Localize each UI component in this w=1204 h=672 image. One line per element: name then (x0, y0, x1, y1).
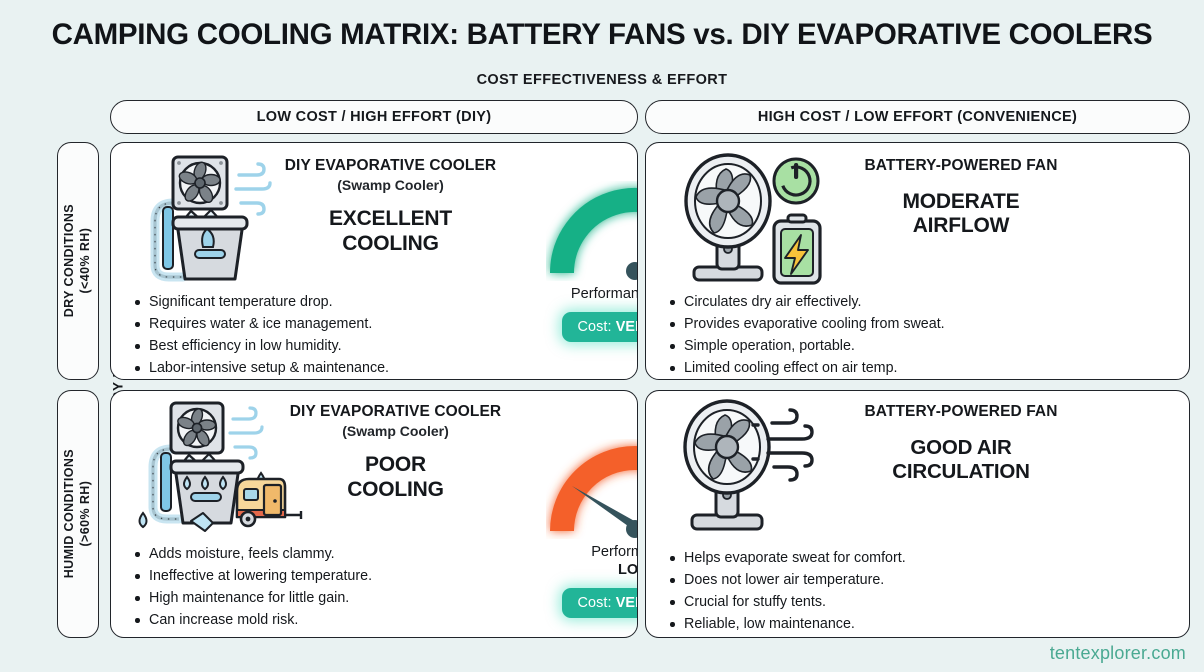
verdict-text: GOOD AIR CIRCULATION (806, 436, 1116, 484)
cost-label: Cost: (578, 319, 612, 335)
performance-readout: Performance: LOW (539, 543, 638, 579)
list-item: Circulates dry air effectively. (668, 291, 945, 313)
status-badge-cost: Cost: VERY LOW (562, 588, 638, 618)
list-item: Crucial for stuffy tents. (668, 591, 906, 613)
list-item: Ineffective at lowering temperature. (133, 565, 372, 587)
product-name: DIY EVAPORATIVE COOLER (263, 157, 518, 176)
performance-label: Performance: (571, 286, 638, 302)
list-item: Does not lower air temperature. (668, 569, 906, 591)
performance-label: Performance: (591, 544, 638, 560)
status-badge-cost: Cost: VERY LOW (562, 312, 638, 342)
verdict-line1: MODERATE (902, 190, 1019, 213)
column-header-low-cost: LOW COST / HIGH EFFORT (DIY) (110, 100, 638, 134)
performance-readout: Performance: HIGH (539, 285, 638, 303)
list-item: Significant temperature drop. (133, 291, 389, 313)
verdict-text: MODERATE AIRFLOW (806, 190, 1116, 240)
product-title-block: BATTERY-POWERED FAN MODERATE AIRFLOW (806, 157, 1116, 239)
product-name: DIY EVAPORATIVE COOLER (263, 403, 528, 422)
performance-value: LOW (618, 562, 638, 578)
verdict-line1: GOOD AIR (910, 436, 1011, 459)
verdict-line1: POOR (365, 453, 426, 476)
product-name: BATTERY-POWERED FAN (806, 403, 1116, 422)
cell-humid-battery-fan: BATTERY-POWERED FAN GOOD AIR CIRCULATION… (645, 390, 1190, 638)
list-item: Can increase mold risk. (133, 609, 372, 631)
list-item: Helps evaporate sweat for comfort. (668, 547, 906, 569)
row-header-humid-line2: (>60% RH) (78, 449, 94, 578)
list-item: Requires water & ice management. (133, 313, 389, 335)
list-item: Limited cooling effect on air temp. (668, 357, 945, 379)
row-header-dry-conditions: DRY CONDITIONS (<40% RH) (57, 142, 99, 380)
column-header-low-cost-label: LOW COST / HIGH EFFORT (DIY) (257, 109, 492, 125)
product-subtitle: (Swamp Cooler) (263, 177, 518, 194)
list-item: Reliable, low maintenance. (668, 613, 906, 635)
product-name: BATTERY-POWERED FAN (806, 157, 1116, 176)
cell-dry-diy-cooler: DIY EVAPORATIVE COOLER (Swamp Cooler) EX… (110, 142, 638, 380)
verdict-line2: CIRCULATION (892, 460, 1030, 483)
product-title-block: BATTERY-POWERED FAN GOOD AIR CIRCULATION (806, 403, 1116, 484)
feature-list: Significant temperature drop. Requires w… (133, 291, 389, 380)
list-item: Provides evaporative cooling from sweat. (668, 313, 945, 335)
verdict-line2: COOLING (342, 232, 439, 255)
verdict-text: EXCELLENT COOLING (263, 207, 518, 257)
list-item: Simple operation, portable. (668, 335, 945, 357)
verdict-line2: AIRFLOW (913, 214, 1010, 237)
feature-list: Helps evaporate sweat for comfort. Does … (668, 547, 906, 636)
list-item: Labor-intensive setup & maintenance. (133, 357, 389, 379)
infographic-root: CAMPING COOLING MATRIX: BATTERY FANS vs.… (0, 0, 1204, 672)
feature-list: Circulates dry air effectively. Provides… (668, 291, 945, 380)
verdict-line2: COOLING (347, 478, 444, 501)
page-title: CAMPING COOLING MATRIX: BATTERY FANS vs.… (0, 18, 1204, 52)
performance-gauge-group: Performance: HIGH Cost: VERY LOW (539, 181, 638, 342)
row-header-humid-conditions: HUMID CONDITIONS (>60% RH) (57, 390, 99, 638)
diy-evaporative-cooler-icon (121, 149, 281, 289)
gauge-icon (546, 181, 638, 281)
product-subtitle: (Swamp Cooler) (263, 423, 528, 440)
product-title-block: DIY EVAPORATIVE COOLER (Swamp Cooler) PO… (263, 403, 528, 503)
row-header-dry-line1: DRY CONDITIONS (62, 204, 78, 317)
verdict-text: POOR COOLING (263, 453, 528, 503)
column-header-high-cost-label: HIGH COST / LOW EFFORT (CONVENIENCE) (758, 109, 1077, 125)
cell-humid-diy-cooler: DIY EVAPORATIVE COOLER (Swamp Cooler) PO… (110, 390, 638, 638)
feature-list: Adds moisture, feels clammy. Ineffective… (133, 543, 372, 632)
performance-gauge-group: Performance: LOW Cost: VERY LOW (539, 439, 638, 618)
cell-dry-battery-fan: BATTERY-POWERED FAN MODERATE AIRFLOW Cir… (645, 142, 1190, 380)
site-watermark: tentexplorer.com (1050, 643, 1186, 664)
row-header-humid-line1: HUMID CONDITIONS (62, 449, 78, 578)
list-item: Best efficiency in low humidity. (133, 335, 389, 357)
cost-value: VERY LOW (616, 319, 638, 335)
list-item: Adds moisture, feels clammy. (133, 543, 372, 565)
product-title-block: DIY EVAPORATIVE COOLER (Swamp Cooler) EX… (263, 157, 518, 257)
x-axis-title: COST EFFECTIVENESS & EFFORT (0, 72, 1204, 88)
row-header-dry-line2: (<40% RH) (78, 204, 94, 317)
cost-label: Cost: (578, 595, 612, 611)
gauge-icon (546, 439, 638, 539)
column-header-high-cost: HIGH COST / LOW EFFORT (CONVENIENCE) (645, 100, 1190, 134)
list-item: High maintenance for little gain. (133, 587, 372, 609)
verdict-line1: EXCELLENT (329, 207, 452, 230)
cost-value: VERY LOW (616, 595, 638, 611)
